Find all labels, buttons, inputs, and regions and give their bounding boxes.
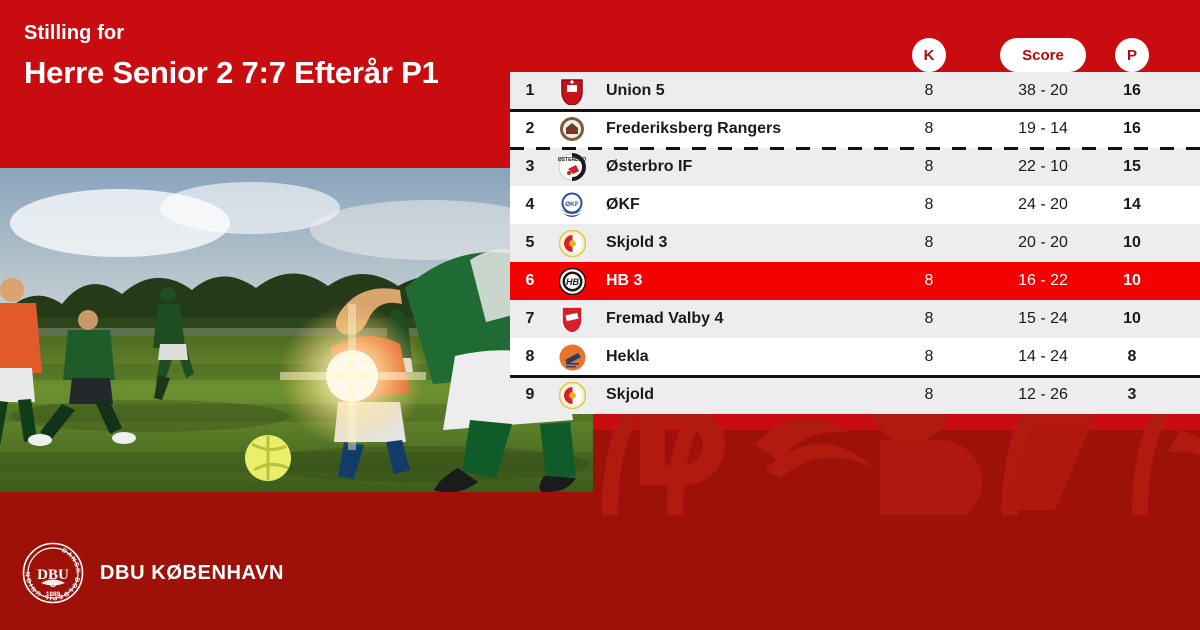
row-matches: 8 xyxy=(912,196,946,214)
footer-organisation: DBU KØBENHAVN xyxy=(100,562,284,585)
table-row[interactable]: 8 Hekla 8 14 - 24 8 xyxy=(510,338,1200,376)
table-body: 1 Union 5 8 38 - 20 16 2 Frederiksberg R… xyxy=(510,72,1200,414)
row-matches: 8 xyxy=(912,234,946,252)
row-team-name: Østerbro IF xyxy=(594,158,1200,176)
row-matches: 8 xyxy=(912,158,946,176)
row-matches: 8 xyxy=(912,310,946,328)
page-title: Herre Senior 2 7:7 Efterår P1 xyxy=(24,52,494,94)
row-matches: 8 xyxy=(912,82,946,100)
row-team-name: ØKF xyxy=(594,196,1200,214)
row-position: 4 xyxy=(510,196,550,214)
row-score: 14 - 24 xyxy=(1000,348,1086,366)
standings-table: K Score P 1 Union 5 8 38 - 20 16 2 xyxy=(510,38,1200,414)
row-separator-dashed xyxy=(510,147,1200,150)
row-points: 15 xyxy=(1115,158,1149,176)
row-position: 7 xyxy=(510,310,550,328)
row-points: 3 xyxy=(1115,386,1149,404)
row-matches: 8 xyxy=(912,120,946,138)
row-position: 9 xyxy=(510,386,550,404)
table-row[interactable]: 1 Union 5 8 38 - 20 16 xyxy=(510,72,1200,110)
row-points: 10 xyxy=(1115,234,1149,252)
standings-graphic: Stilling for Herre Senior 2 7:7 Efterår … xyxy=(0,0,1200,630)
row-matches: 8 xyxy=(912,348,946,366)
table-row[interactable]: 7 Fremad Valby 4 8 15 - 24 10 xyxy=(510,300,1200,338)
row-position: 3 xyxy=(510,158,550,176)
row-team-name: Union 5 xyxy=(594,82,1200,100)
row-separator-solid xyxy=(510,109,1200,112)
row-position: 6 xyxy=(510,272,550,290)
row-score: 24 - 20 xyxy=(1000,196,1086,214)
table-row[interactable]: 3 ØSTERBRO Østerbro IF 8 22 - 10 15 xyxy=(510,148,1200,186)
row-matches: 8 xyxy=(912,386,946,404)
row-points: 14 xyxy=(1115,196,1149,214)
table-row[interactable]: 2 Frederiksberg Rangers 8 19 - 14 16 xyxy=(510,110,1200,148)
row-score: 20 - 20 xyxy=(1000,234,1086,252)
row-team-name: Skjold 3 xyxy=(594,234,1200,252)
osterbro-if-crest: ØSTERBRO xyxy=(550,153,594,181)
row-position: 5 xyxy=(510,234,550,252)
hekla-crest xyxy=(550,344,594,371)
row-team-name: Skjold xyxy=(594,386,1200,404)
column-header-matches: K xyxy=(912,38,946,72)
row-score: 19 - 14 xyxy=(1000,120,1086,138)
row-position: 1 xyxy=(510,82,550,100)
row-score: 15 - 24 xyxy=(1000,310,1086,328)
row-score: 12 - 26 xyxy=(1000,386,1086,404)
column-header-points: P xyxy=(1115,38,1149,72)
table-header: K Score P xyxy=(510,38,1200,72)
frederiksberg-rangers-crest xyxy=(550,116,594,142)
row-score: 16 - 22 xyxy=(1000,272,1086,290)
header-kicker: Stilling for xyxy=(24,22,124,45)
fremad-valby-4-crest xyxy=(550,305,594,333)
svg-text:ØSTERBRO: ØSTERBRO xyxy=(558,157,586,163)
row-points: 16 xyxy=(1115,82,1149,100)
row-separator-solid xyxy=(510,375,1200,378)
skjold-crest xyxy=(550,382,594,409)
row-score: 22 - 10 xyxy=(1000,158,1086,176)
row-points: 16 xyxy=(1115,120,1149,138)
column-header-score: Score xyxy=(1000,38,1086,72)
table-row[interactable]: 9 Skjold 8 12 - 26 3 xyxy=(510,376,1200,414)
row-matches: 8 xyxy=(912,272,946,290)
svg-text:ØKF: ØKF xyxy=(565,201,579,208)
row-team-name: Fremad Valby 4 xyxy=(594,310,1200,328)
row-points: 10 xyxy=(1115,272,1149,290)
row-points: 10 xyxy=(1115,310,1149,328)
union-5-crest xyxy=(550,77,594,105)
row-position: 8 xyxy=(510,348,550,366)
hb-3-crest: HB xyxy=(550,268,594,295)
svg-text:1889: 1889 xyxy=(46,591,61,598)
dbu-logo-icon: DANSK BOLDSPIL UNION DBU 1889 xyxy=(22,542,84,604)
table-row[interactable]: 4 ØKF ØKF 8 24 - 20 14 xyxy=(510,186,1200,224)
table-row[interactable]: 5 Skjold 3 8 20 - 20 10 xyxy=(510,224,1200,262)
svg-text:HB: HB xyxy=(566,277,579,287)
okf-crest: ØKF xyxy=(550,192,594,218)
row-points: 8 xyxy=(1115,348,1149,366)
row-score: 38 - 20 xyxy=(1000,82,1086,100)
table-row-highlighted[interactable]: 6 HB HB 3 8 16 - 22 10 xyxy=(510,262,1200,300)
row-position: 2 xyxy=(510,120,550,138)
row-team-name: Hekla xyxy=(594,348,1200,366)
hero-photo xyxy=(0,168,593,492)
row-team-name: Frederiksberg Rangers xyxy=(594,120,1200,138)
row-team-name: HB 3 xyxy=(594,272,1200,290)
skjold-3-crest xyxy=(550,230,594,257)
